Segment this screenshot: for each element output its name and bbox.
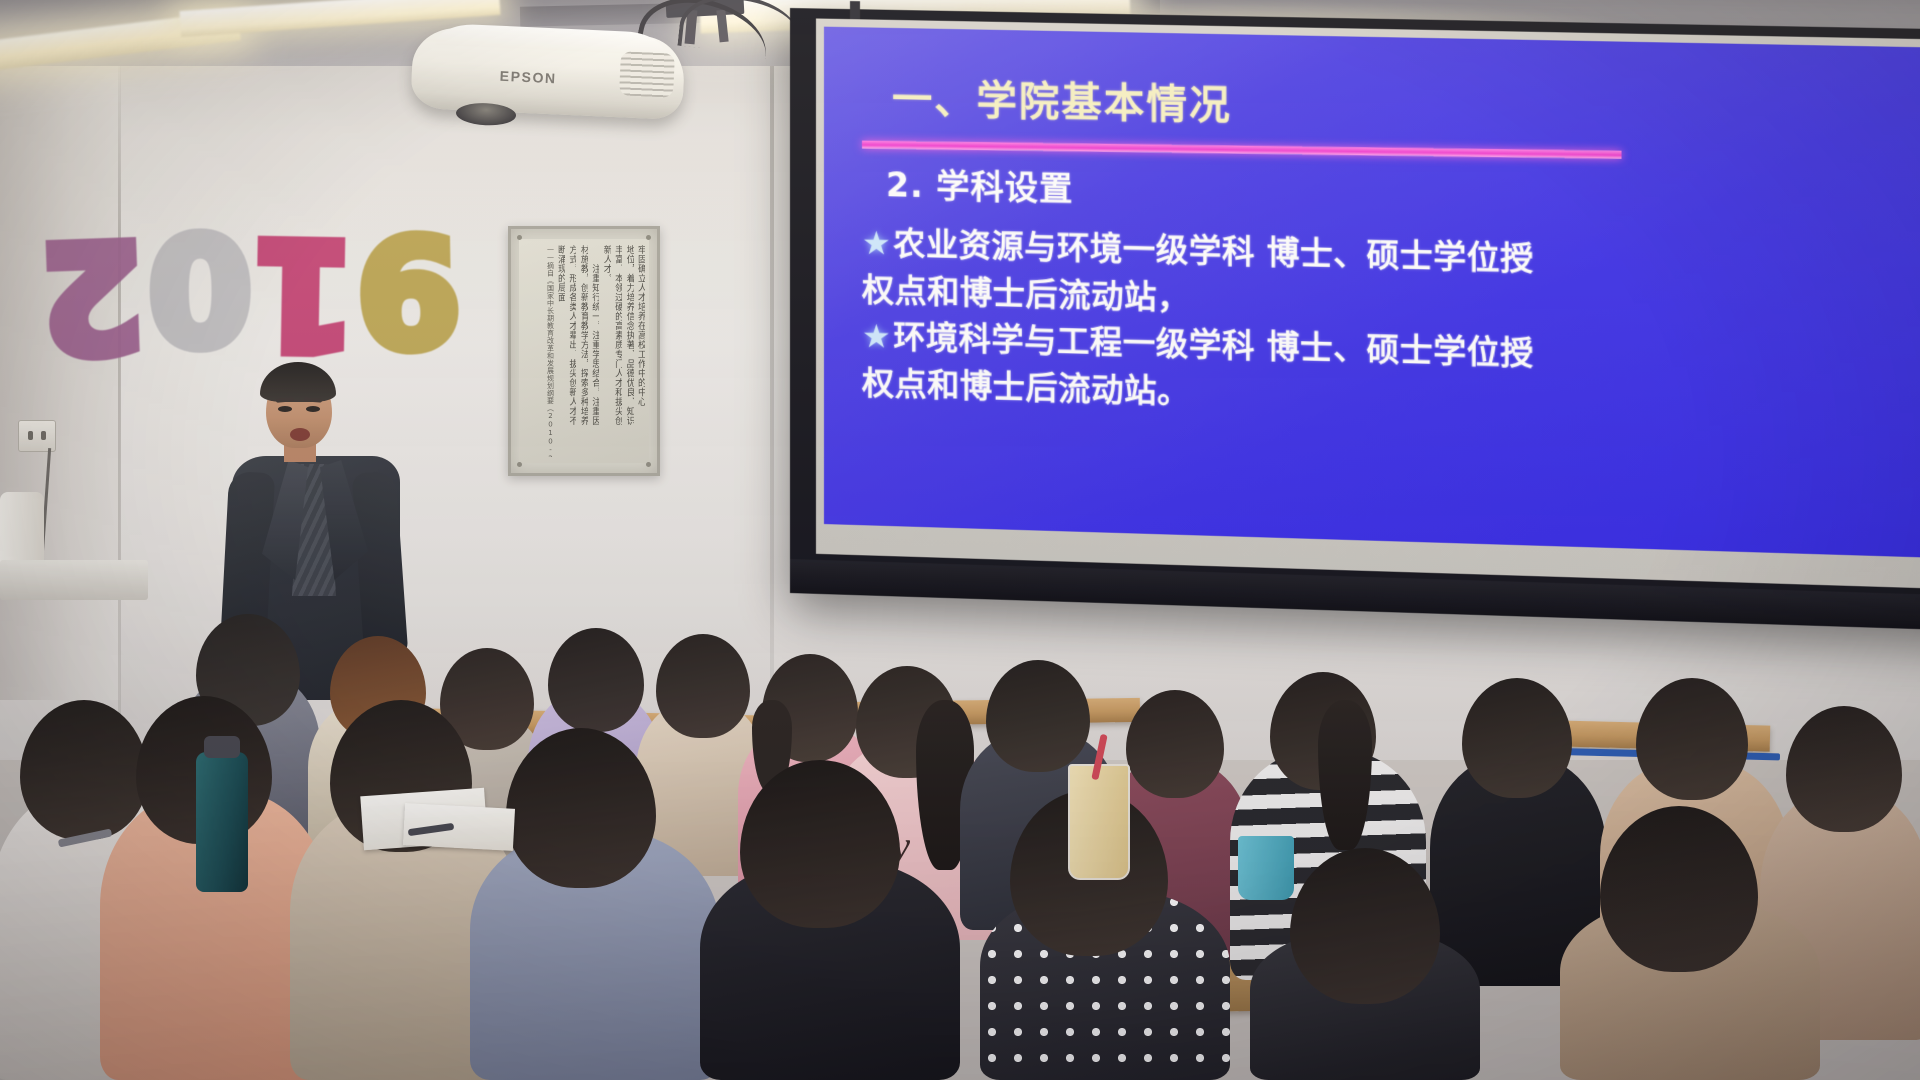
classroom-photo: EPSON 2 0 1 9 牢固确立人才培养在高校工作中的中心 地位，着力培养信… [0,0,1920,1080]
poster-column: 断涌现的局面 [556,245,565,457]
poster-column: 牢固确立人才培养在高校工作中的中心 [636,245,645,457]
tinsel-digit: 1 [251,217,358,369]
projector-vent [619,51,675,97]
projector: EPSON [410,16,686,128]
framed-calligraphy-poster: 牢固确立人才培养在高校工作中的中心 地位，着力培养信念执著、品德优良、知识 丰富… [508,226,660,476]
projector-brand-label: EPSON [499,68,557,87]
water-bottle [196,752,248,892]
podium [0,560,148,600]
poster-column: 注重知行统一，注重学思结合，注重因 [590,245,599,457]
poster-column: 新人才。 [601,245,610,457]
poster-source-line: ——摘自《国家中长期教育改革和发展规划纲要（2010-2020年）》 [546,245,553,457]
screen-mat: 一、学院基本情况 2. 学科设置 ★农业资源与环境一级学科 博士、硕士学位授 权… [816,18,1920,590]
bottle-cap [204,736,240,758]
star-bullet-icon: ★ [862,224,891,263]
poster-column: 方式，形成各类人才辈出、拔尖创新人才不 [567,245,576,457]
poster-column: 地位，着力培养信念执著、品德优良、知识 [624,245,633,457]
presentation-slide: 一、学院基本情况 2. 学科设置 ★农业资源与环境一级学科 博士、硕士学位授 权… [824,27,1920,559]
tinsel-digit: 2 [37,218,147,372]
projection-screen: 一、学院基本情况 2. 学科设置 ★农业资源与环境一级学科 博士、硕士学位授 权… [790,8,1920,632]
slide-divider-rule [862,140,1622,158]
slide-body: ★农业资源与环境一级学科 博士、硕士学位授 权点和博士后流动站， ★环境科学与工… [862,220,1920,437]
poster-column: 材施教，创新教育教学方法，探索多种培养 [578,245,587,457]
bullet-text: 权点和博士后流动站。 [862,364,1190,411]
bullet-text: 权点和博士后流动站， [862,270,1190,316]
poster-column: 丰富、本领过硬的高素质专门人才和拔尖创 [613,245,622,457]
slide-subtitle: 2. 学科设置 [886,158,1073,210]
star-bullet-icon: ★ [862,317,891,356]
tinsel-digit: 0 [148,212,252,362]
tinsel-digit: 9 [355,213,462,365]
wall-seam-right [770,0,774,730]
drink-cup [1238,836,1294,900]
wall-socket [18,420,56,452]
drink-cup [1068,764,1130,880]
slide-title: 一、学院基本情况 [892,66,1232,131]
